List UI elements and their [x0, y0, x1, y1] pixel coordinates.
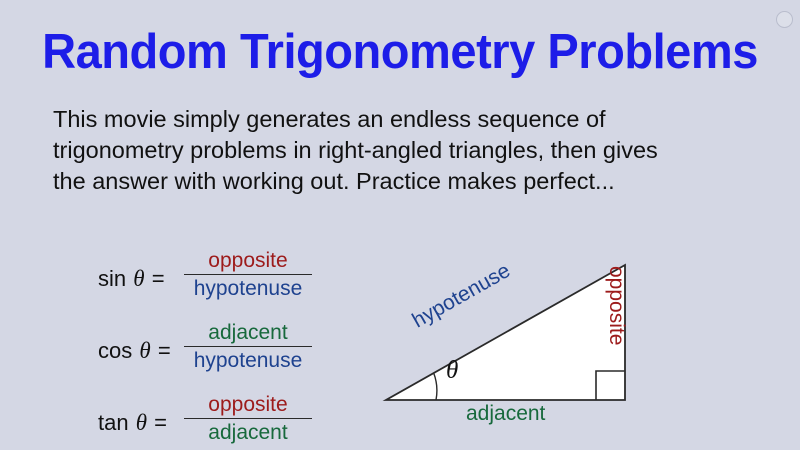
slide-canvas: Random Trigonometry Problems This movie …: [0, 0, 800, 450]
sine-fraction: opposite hypotenuse: [184, 248, 312, 301]
tangent-ratio-label: tan θ =: [98, 410, 167, 436]
triangle-label-adjacent: adjacent: [466, 403, 545, 424]
page-title: Random Trigonometry Problems: [16, 24, 784, 80]
triangle-label-theta: θ: [446, 360, 458, 381]
fraction-bar: [184, 346, 312, 347]
fraction-bar: [184, 418, 312, 419]
triangle-label-opposite: opposite: [606, 266, 627, 345]
trig-ratio-formula-list: sin θ = opposite hypotenuse cos θ = adja…: [98, 248, 333, 450]
theta-symbol: θ: [138, 338, 151, 363]
intro-paragraph: This movie simply generates an endless s…: [53, 104, 753, 197]
sine-denominator: hypotenuse: [184, 276, 312, 301]
cosine-numerator: adjacent: [184, 320, 312, 345]
sine-function-name: sin: [98, 266, 126, 291]
tangent-denominator: adjacent: [184, 420, 312, 445]
equals-sign: =: [158, 338, 171, 363]
sine-ratio-label: sin θ =: [98, 266, 165, 292]
sine-numerator: opposite: [184, 248, 312, 273]
tangent-ratio-formula: tan θ = opposite adjacent: [98, 392, 333, 450]
tangent-fraction: opposite adjacent: [184, 392, 312, 445]
cosine-denominator: hypotenuse: [184, 348, 312, 373]
cosine-ratio-formula: cos θ = adjacent hypotenuse: [98, 320, 333, 392]
theta-symbol: θ: [132, 266, 145, 291]
cosine-ratio-label: cos θ =: [98, 338, 171, 364]
tangent-numerator: opposite: [184, 392, 312, 417]
fraction-bar: [184, 274, 312, 275]
equals-sign: =: [154, 410, 167, 435]
cosine-function-name: cos: [98, 338, 132, 363]
triangle-shape: [386, 265, 625, 400]
sine-ratio-formula: sin θ = opposite hypotenuse: [98, 248, 333, 320]
intro-line-1: This movie simply generates an endless s…: [53, 104, 753, 135]
theta-symbol: θ: [135, 410, 148, 435]
cosine-fraction: adjacent hypotenuse: [184, 320, 312, 373]
intro-line-3: the answer with working out. Practice ma…: [53, 166, 753, 197]
tangent-function-name: tan: [98, 410, 129, 435]
intro-line-2: trigonometry problems in right-angled tr…: [53, 135, 753, 166]
equals-sign: =: [152, 266, 165, 291]
right-angled-triangle-diagram: hypotenuse opposite adjacent θ: [368, 248, 668, 448]
